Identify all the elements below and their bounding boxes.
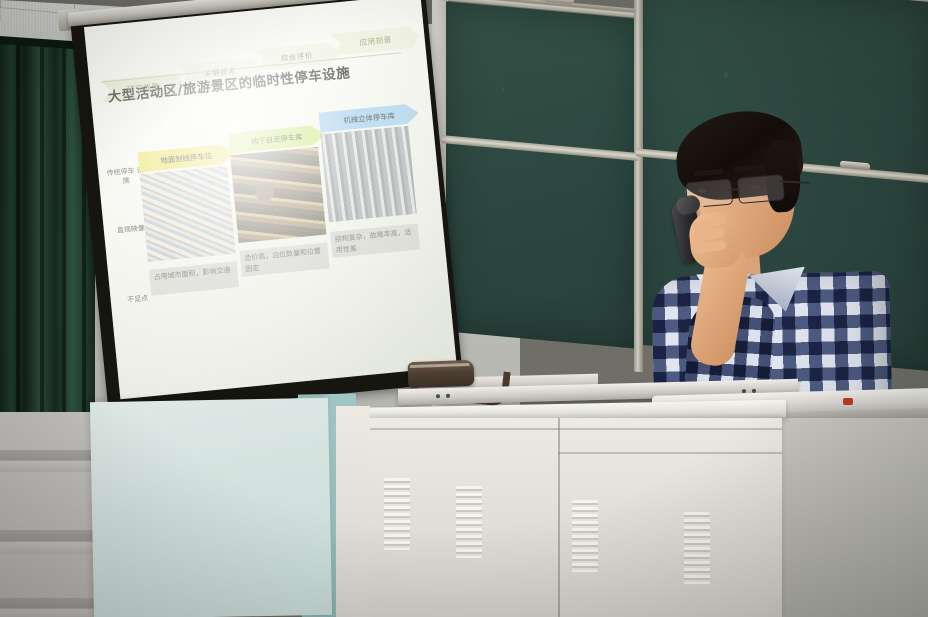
drawback-underground-garage: 造价高，泊位数量和位置固定	[240, 242, 330, 276]
metal-cabinet	[340, 418, 782, 617]
cabinet-vent	[384, 478, 410, 550]
lecture-hall-photo: 研究背景 关键技术 综合评价 应用前景 大型活动区/旅游景区的临时性停车设施 传…	[0, 0, 928, 617]
mechanical-parking-tower-photo	[321, 126, 417, 222]
cabinet-vent	[684, 512, 710, 584]
shoulder-bag	[408, 360, 475, 388]
leaning-panel-side	[336, 406, 370, 617]
marker-cap	[843, 398, 853, 405]
speaker	[646, 96, 896, 416]
projection-screen: 研究背景 关键技术 综合评价 应用前景 大型活动区/旅游景区的临时性停车设施 传…	[74, 0, 483, 416]
drawback-surface-parking: 占用城市面积，影响交通	[149, 261, 239, 295]
cabinet-vent	[572, 500, 598, 572]
cabinet-vent	[456, 486, 482, 558]
presentation-slide: 研究背景 关键技术 综合评价 应用前景 大型活动区/旅游景区的临时性停车设施 传…	[89, 1, 451, 391]
surface-parking-lot-photo	[140, 166, 236, 262]
drawback-mechanical-garage: 结构复杂，故障率高，适用性差	[330, 223, 420, 257]
nav-chevron-application-prospect[interactable]: 应用前景	[331, 25, 421, 55]
leaning-whiteboard	[90, 398, 332, 617]
underground-garage-photo	[230, 147, 326, 243]
